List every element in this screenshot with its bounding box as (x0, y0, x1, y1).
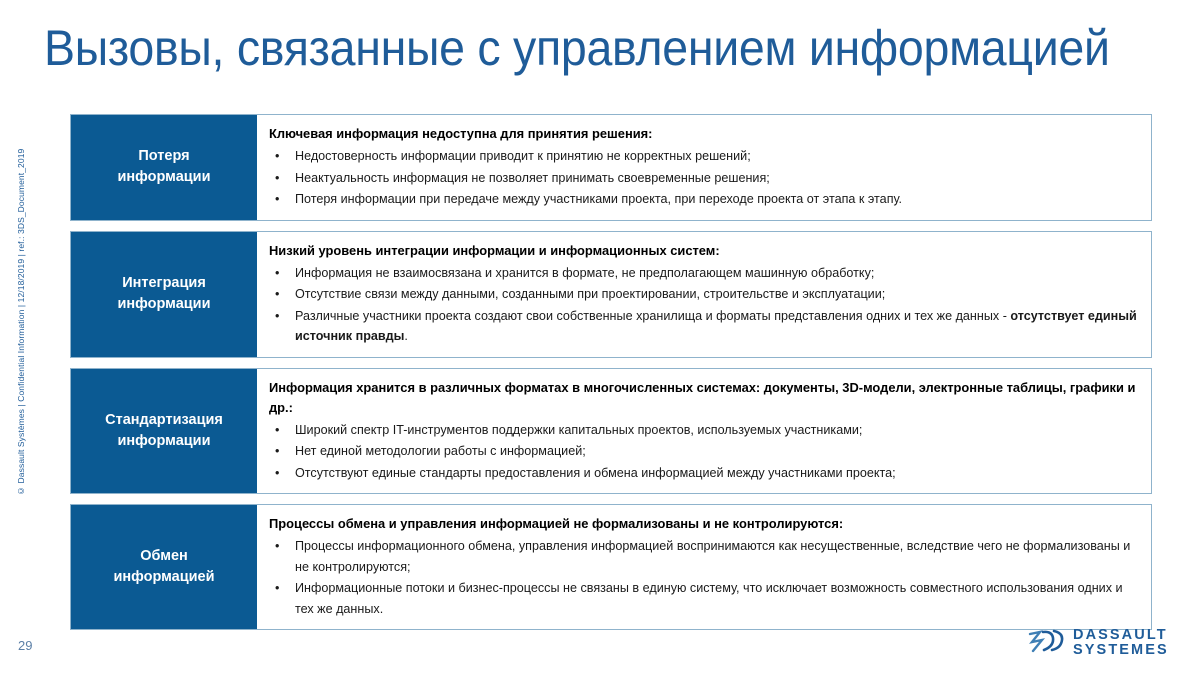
row-label-line-2: информации (117, 169, 210, 185)
list-item: • Различные участники проекта создают св… (269, 306, 1141, 347)
list-item: • Потеря информации при передаче между у… (269, 189, 1141, 210)
bullet-list: • Недостоверность информации приводит к … (269, 146, 1141, 210)
bullet-icon: • (275, 168, 279, 189)
table-row: Интеграция информации Низкий уровень инт… (70, 231, 1152, 358)
list-item: • Процессы информационного обмена, управ… (269, 536, 1141, 577)
bullet-list: • Информация не взаимосвязана и хранится… (269, 263, 1141, 347)
content-heading: Низкий уровень интеграции информации и и… (269, 241, 1141, 261)
list-item: • Неактуальность информация не позволяет… (269, 168, 1141, 189)
row-content: Ключевая информация недоступна для приня… (257, 115, 1151, 220)
row-label-obmen-informaciey: Обмен информацией (71, 505, 257, 629)
page-title: Вызовы, связанные с управлением информац… (44, 16, 1086, 82)
table-row: Обмен информацией Процессы обмена и упра… (70, 504, 1152, 630)
row-label-poterya-informacii: Потеря информации (71, 115, 257, 220)
bullet-icon: • (275, 284, 279, 305)
list-item-text: Информация не взаимосвязана и хранится в… (295, 266, 874, 280)
list-item-text: Различные участники проекта создают свои… (295, 309, 1010, 323)
logo-line-1: DASSAULT (1073, 628, 1169, 644)
bullet-icon: • (275, 189, 279, 210)
list-item-text: Недостоверность информации приводит к пр… (295, 149, 751, 163)
row-label-line-2: информацией (113, 569, 214, 585)
bullet-icon: • (275, 536, 279, 557)
row-content: Процессы обмена и управления информацией… (257, 505, 1151, 629)
table-row: Стандартизация информации Информация хра… (70, 368, 1152, 495)
list-item-text: Информационные потоки и бизнес-процессы … (295, 581, 1123, 616)
list-item: • Отсутствие связи между данными, создан… (269, 284, 1141, 305)
dassault-systemes-logo: DASSAULT SYSTEMES (1026, 623, 1172, 663)
logo-line-2: SYSTEMES (1073, 643, 1169, 659)
row-content: Низкий уровень интеграции информации и и… (257, 232, 1151, 357)
row-label-integraciya-informacii: Интеграция информации (71, 232, 257, 357)
list-item: • Информация не взаимосвязана и хранится… (269, 263, 1141, 284)
copyright-notice: © Dassault Systèmes | Confidential Infor… (13, 146, 29, 496)
bullet-icon: • (275, 306, 279, 327)
row-label-line-1: Потеря (138, 148, 189, 164)
list-item-text: Процессы информационного обмена, управле… (295, 539, 1130, 574)
bullet-icon: • (275, 420, 279, 441)
list-item: • Отсутствуют единые стандарты предостав… (269, 463, 1141, 484)
challenges-table: Потеря информации Ключевая информация не… (70, 114, 1152, 640)
row-label-standartizaciya-informacii: Стандартизация информации (71, 369, 257, 494)
bullet-icon: • (275, 146, 279, 167)
content-heading: Ключевая информация недоступна для приня… (269, 124, 1141, 144)
content-heading: Информация хранится в различных форматах… (269, 378, 1141, 418)
table-row: Потеря информации Ключевая информация не… (70, 114, 1152, 221)
3ds-monogram-icon (1026, 626, 1066, 661)
list-item: • Недостоверность информации приводит к … (269, 146, 1141, 167)
list-item-text: Потеря информации при передаче между уча… (295, 192, 902, 206)
logo-wordmark: DASSAULT SYSTEMES (1073, 628, 1169, 659)
bullet-icon: • (275, 463, 279, 484)
list-item-text: Широкий спектр IT-инструментов поддержки… (295, 423, 862, 437)
bullet-icon: • (275, 578, 279, 599)
list-item: • Информационные потоки и бизнес-процесс… (269, 578, 1141, 619)
list-item-text-after: . (404, 329, 408, 343)
row-label-line-2: информации (117, 433, 210, 449)
bullet-icon: • (275, 441, 279, 462)
page-number: 29 (18, 638, 32, 653)
list-item-text: Отсутствуют единые стандарты предоставле… (295, 466, 896, 480)
row-content: Информация хранится в различных форматах… (257, 369, 1151, 494)
list-item: • Нет единой методологии работы с информ… (269, 441, 1141, 462)
list-item-text: Отсутствие связи между данными, созданны… (295, 287, 885, 301)
row-label-line-2: информации (117, 296, 210, 312)
list-item-text: Неактуальность информация не позволяет п… (295, 171, 770, 185)
list-item-text: Нет единой методологии работы с информац… (295, 444, 586, 458)
row-label-line-1: Интеграция (122, 275, 206, 291)
row-label-line-1: Стандартизация (105, 412, 223, 428)
row-label-line-1: Обмен (140, 548, 188, 564)
bullet-list: • Процессы информационного обмена, управ… (269, 536, 1141, 619)
list-item: • Широкий спектр IT-инструментов поддерж… (269, 420, 1141, 441)
bullet-list: • Широкий спектр IT-инструментов поддерж… (269, 420, 1141, 484)
content-heading: Процессы обмена и управления информацией… (269, 514, 1141, 534)
bullet-icon: • (275, 263, 279, 284)
